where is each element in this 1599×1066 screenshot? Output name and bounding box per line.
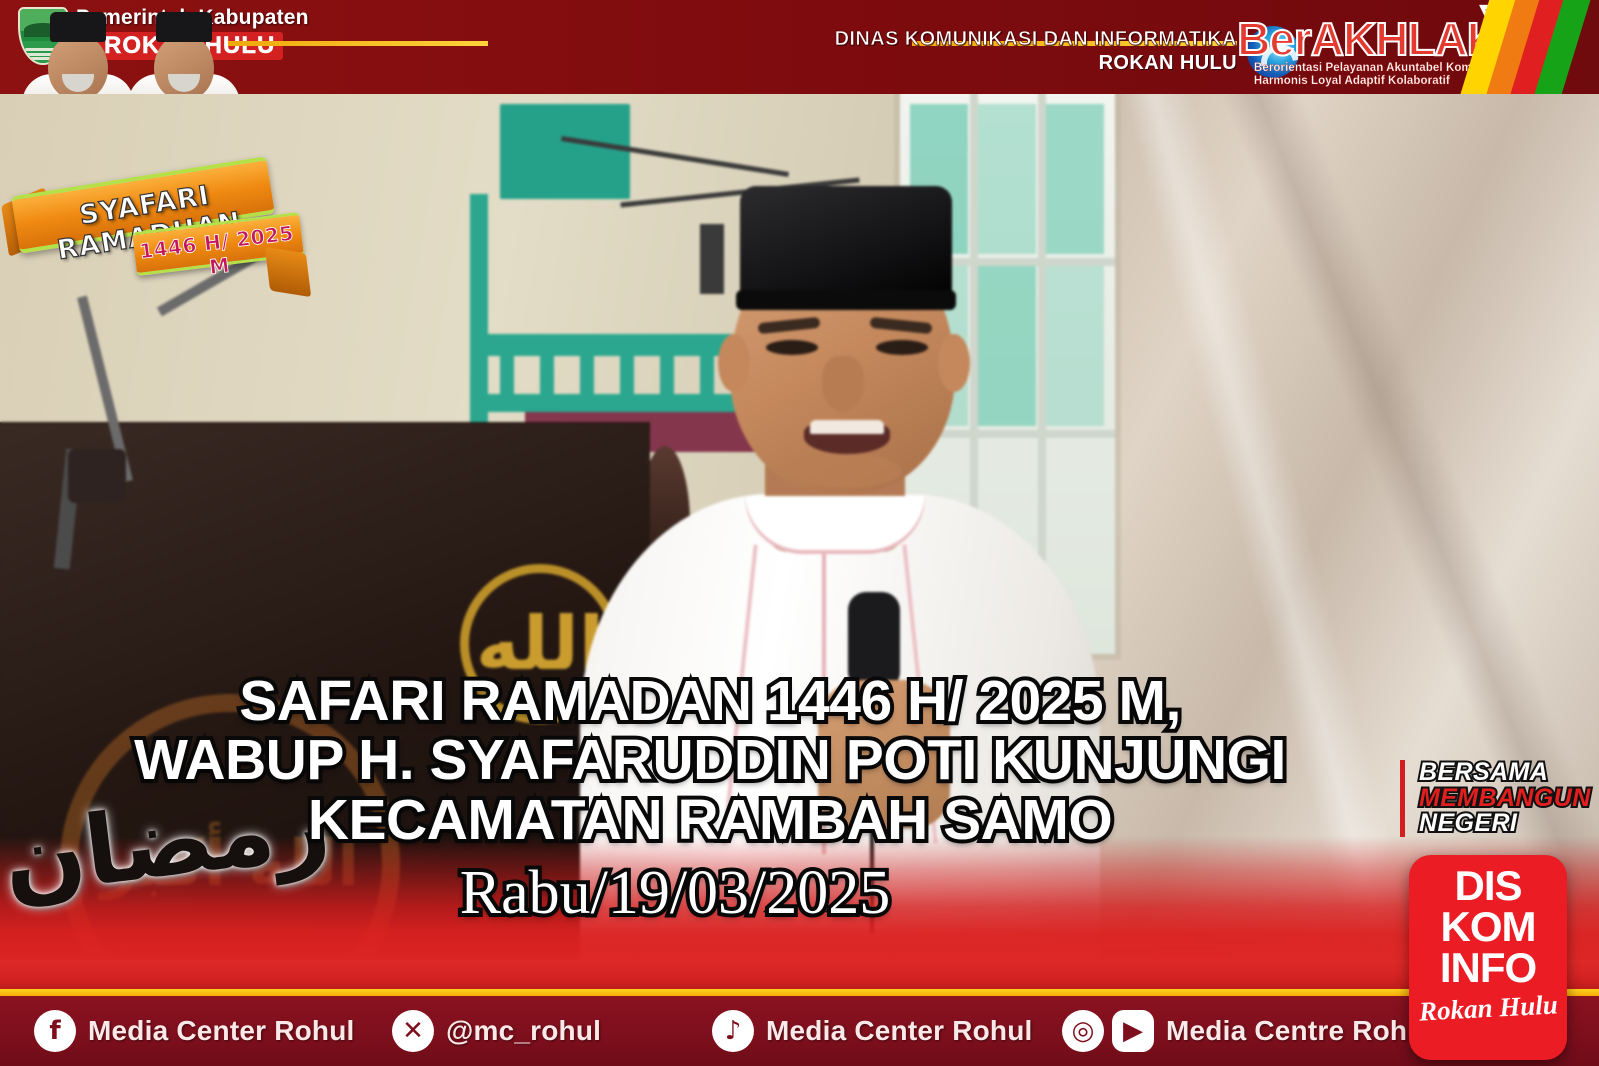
- social-label-tiktok: Media Center Rohul: [766, 1015, 1033, 1047]
- slogan-word1: BERSAMA: [1419, 760, 1591, 786]
- syafari-ramadhan-ribbon: SYAFARI RAMADHAN 1446 H/ 2025 M: [6, 150, 306, 280]
- mic-head: [68, 449, 126, 503]
- facebook-icon: f: [34, 1010, 76, 1052]
- social-item-x[interactable]: ✕ @mc_rohul: [392, 1010, 601, 1052]
- headline-line2: WABUP H. SYAFARUDDIN POTI KUNJUNGI: [0, 731, 1420, 790]
- headline-line1: SAFARI RAMADAN 1446 H/ 2025 M,: [0, 672, 1420, 731]
- social-item-instagram-youtube[interactable]: ◎ ▶ Media Centre Rohul: [1062, 1010, 1433, 1052]
- top-header-bar: Pemerintah Kabupaten ROKAN HULU DINAS KO…: [0, 0, 1599, 94]
- social-label-instagram-youtube: Media Centre Rohul: [1166, 1015, 1433, 1047]
- youtube-icon: ▶: [1112, 1010, 1154, 1052]
- regent-portrait-icon: [22, 12, 134, 94]
- diskominfo-line3: INFO: [1440, 947, 1536, 988]
- agency-name-line1: DINAS KOMUNIKASI DAN INFORMATIKA: [835, 28, 1237, 51]
- diskominfo-badge: DIS KOM INFO Rokan Hulu: [1409, 855, 1567, 1060]
- x-twitter-icon: ✕: [392, 1010, 434, 1052]
- poster-canvas: رمضان Pemerintah Kabupaten ROKAN HULU DI…: [0, 0, 1599, 1066]
- slogan-word3: NEGERI: [1419, 811, 1591, 837]
- event-date: Rabu/19/03/2025: [0, 862, 1350, 924]
- diskominfo-region: Rokan Hulu: [1418, 990, 1558, 1028]
- agency-name-line2: ROKAN HULU: [1099, 52, 1237, 75]
- social-item-tiktok[interactable]: ♪ Media Center Rohul: [712, 1010, 1033, 1052]
- rack-post: [470, 194, 488, 454]
- berakhlak-word-part1: Ber: [1237, 13, 1311, 65]
- headline: SAFARI RAMADAN 1446 H/ 2025 M, WABUP H. …: [0, 672, 1420, 850]
- social-label-x: @mc_rohul: [446, 1015, 601, 1047]
- social-label-facebook: Media Center Rohul: [88, 1015, 355, 1047]
- social-item-facebook[interactable]: f Media Center Rohul: [34, 1010, 355, 1052]
- social-footer: f Media Center Rohul ✕ @mc_rohul ♪ Media…: [0, 996, 1599, 1066]
- vice-regent-portrait-icon: [128, 12, 240, 94]
- diskominfo-line2: KOM: [1441, 906, 1536, 947]
- corner-stripes: [1459, 0, 1599, 94]
- slogan-word2: MEMBANGUN: [1419, 786, 1591, 812]
- instagram-icon: ◎: [1062, 1010, 1104, 1052]
- headline-line3: KECAMATAN RAMBAH SAMO: [0, 791, 1420, 850]
- tiktok-icon: ♪: [712, 1010, 754, 1052]
- header-rule-left: [228, 41, 488, 46]
- slogan-block: BERSAMA MEMBANGUN NEGERI: [1400, 760, 1591, 837]
- diskominfo-line1: DIS: [1454, 865, 1521, 906]
- peci-cap: [740, 186, 952, 304]
